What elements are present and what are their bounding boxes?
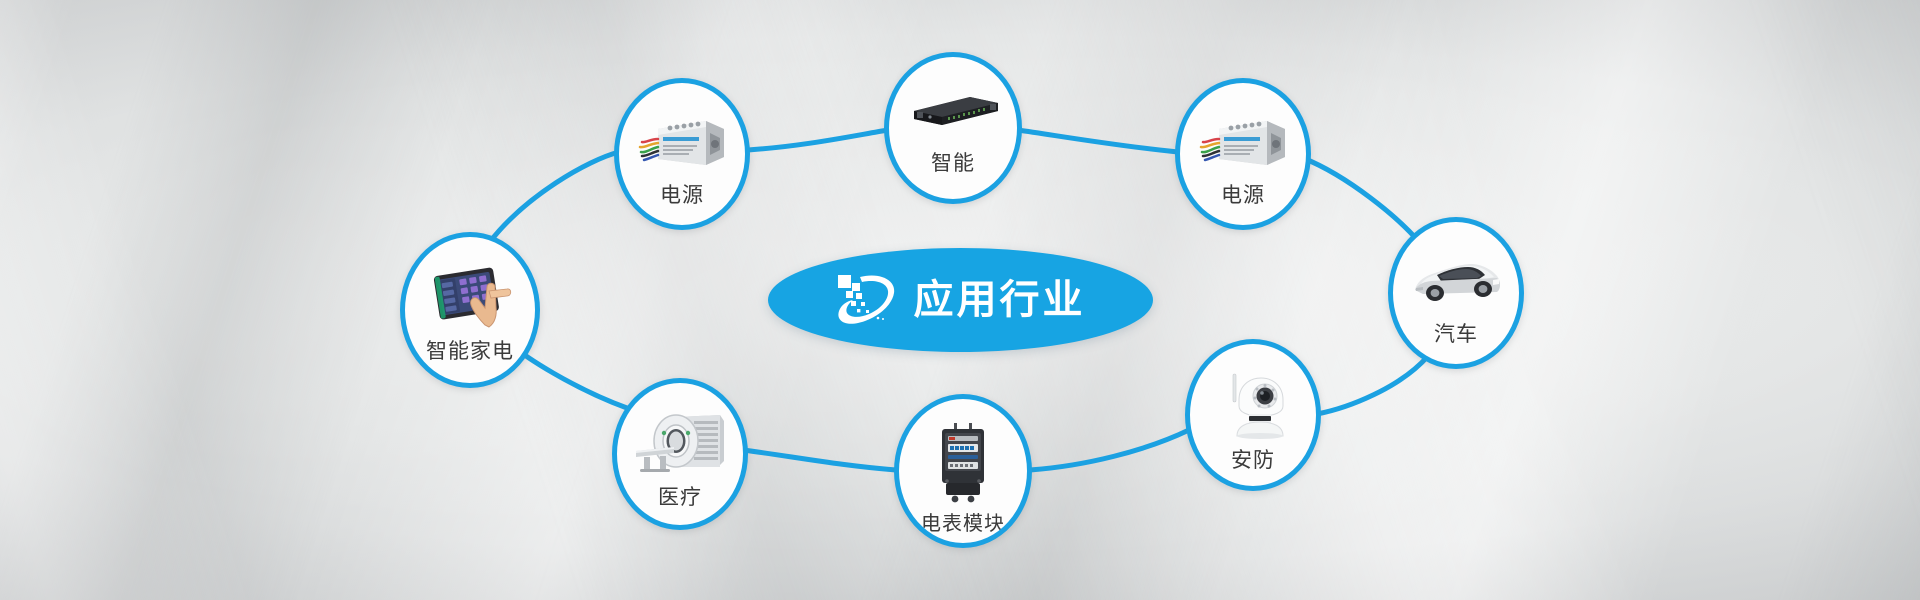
node-power-left[interactable]: 电源 — [614, 78, 750, 230]
link-smart-to-power-right — [1018, 130, 1178, 152]
link-power-right-to-automotive — [1303, 158, 1420, 243]
center-badge-label: 应用行业 — [914, 280, 1086, 320]
tablet-touch-icon — [427, 265, 513, 329]
node-power-right[interactable]: 电源 — [1175, 78, 1311, 230]
link-smarthome-to-power-left — [489, 152, 619, 243]
node-label: 医疗 — [658, 487, 702, 508]
node-security[interactable]: 安防 — [1185, 339, 1321, 491]
node-medical[interactable]: 医疗 — [612, 378, 748, 530]
node-label: 汽车 — [1434, 324, 1478, 345]
sports-car-icon — [1409, 254, 1503, 306]
mri-scanner-icon — [632, 411, 728, 473]
power-supply-icon — [1197, 113, 1289, 171]
node-label: 电源 — [660, 185, 704, 206]
center-badge[interactable]: 应用行业 — [768, 248, 1153, 352]
electric-meter-icon — [932, 421, 994, 503]
node-smart[interactable]: 智能 — [884, 52, 1022, 204]
node-label: 智能家电 — [426, 341, 514, 362]
node-label: 电源 — [1221, 185, 1265, 206]
node-label: 智能 — [931, 153, 975, 174]
node-automotive[interactable]: 汽车 — [1388, 217, 1524, 369]
link-security-to-meter — [1030, 430, 1189, 470]
link-automotive-to-security — [1317, 356, 1428, 414]
node-label: 安防 — [1231, 450, 1275, 471]
power-supply-icon — [636, 113, 728, 171]
link-meter-to-medical — [743, 450, 897, 470]
orbit-pixel-logo-icon — [836, 271, 898, 329]
link-power-left-to-smart — [748, 130, 888, 150]
node-label: 电表模块 — [921, 513, 1005, 533]
node-smart-home[interactable]: 智能家电 — [400, 232, 540, 388]
application-industries-banner: 智能家电 — [0, 0, 1920, 600]
rack-server-icon — [904, 91, 1002, 133]
node-meter-module[interactable]: 电表模块 — [894, 394, 1032, 548]
ip-camera-icon — [1211, 366, 1295, 440]
